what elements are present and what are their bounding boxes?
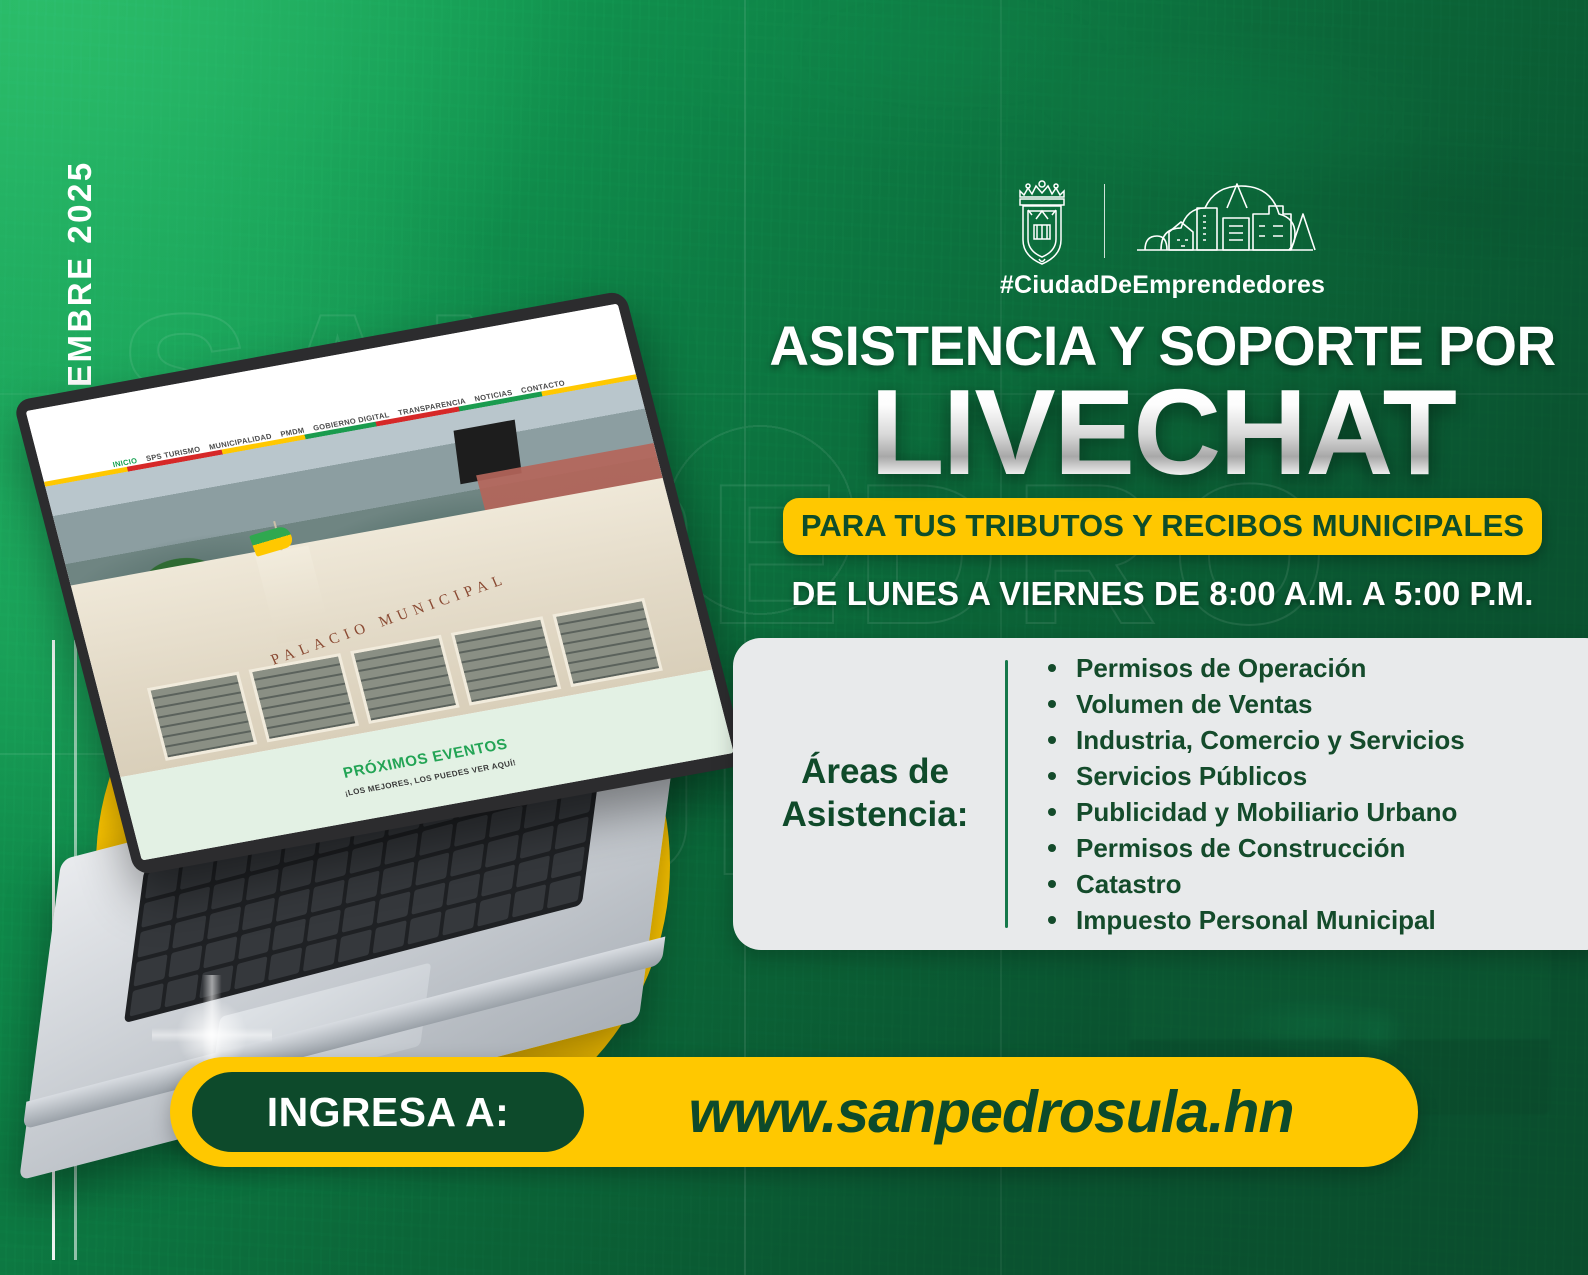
areas-list-item: Industria, Comercio y Servicios bbox=[1042, 722, 1588, 758]
cta-bar[interactable]: INGRESA A: www.sanpedrosula.hn bbox=[170, 1057, 1418, 1167]
laptop-screen: INICIO SPS TURISMO MUNICIPALIDAD PMDM GO… bbox=[26, 304, 734, 861]
areas-of-assistance-panel: Áreas de Asistencia: Permisos de Operaci… bbox=[733, 638, 1588, 950]
logo-divider bbox=[1104, 184, 1106, 258]
areas-list-item: Catastro bbox=[1042, 866, 1588, 902]
logo-row bbox=[1006, 175, 1320, 267]
coat-of-arms-icon bbox=[1006, 175, 1078, 267]
cta-website-url[interactable]: www.sanpedrosula.hn bbox=[584, 1078, 1418, 1146]
areas-panel-divider bbox=[1005, 660, 1008, 928]
subtitle-text: PARA TUS TRIBUTOS Y RECIBOS MUNICIPALES bbox=[801, 508, 1524, 543]
areas-label-line2: Asistencia: bbox=[745, 794, 1005, 837]
palacio-tower bbox=[255, 545, 331, 644]
headline-line-2-livechat: LIVECHAT bbox=[735, 376, 1588, 488]
areas-list-item: Servicios Públicos bbox=[1042, 758, 1588, 794]
brand-logo-lockup: #CiudadDeEmprendedores bbox=[735, 175, 1588, 300]
areas-panel-label: Áreas de Asistencia: bbox=[733, 751, 1005, 836]
right-content-column: #CiudadDeEmprendedores ASISTENCIA Y SOPO… bbox=[735, 175, 1588, 613]
areas-list-item: Volumen de Ventas bbox=[1042, 686, 1588, 722]
areas-list-item: Permisos de Operación bbox=[1042, 650, 1588, 686]
areas-list-item: Impuesto Personal Municipal bbox=[1042, 902, 1588, 938]
city-skyline-icon bbox=[1131, 178, 1319, 264]
business-hours-text: DE LUNES A VIERNES DE 8:00 A.M. A 5:00 P… bbox=[735, 575, 1588, 613]
areas-list: Permisos de Operación Volumen de Ventas … bbox=[1018, 642, 1588, 946]
laptop-mockup: INICIO SPS TURISMO MUNICIPALIDAD PMDM GO… bbox=[10, 320, 710, 1020]
subtitle-yellow-banner: PARA TUS TRIBUTOS Y RECIBOS MUNICIPALES bbox=[783, 498, 1542, 555]
areas-label-line1: Áreas de bbox=[745, 751, 1005, 794]
cta-label: INGRESA A: bbox=[267, 1089, 509, 1136]
poster-canvas: SAN PEDRO SULA NOVIEMBRE 2025 bbox=[0, 0, 1588, 1275]
cta-label-pill: INGRESA A: bbox=[192, 1072, 584, 1152]
areas-list-item: Permisos de Construcción bbox=[1042, 830, 1588, 866]
areas-list-item: Publicidad y Mobiliario Urbano bbox=[1042, 794, 1588, 830]
brand-hashtag: #CiudadDeEmprendedores bbox=[1000, 271, 1325, 300]
